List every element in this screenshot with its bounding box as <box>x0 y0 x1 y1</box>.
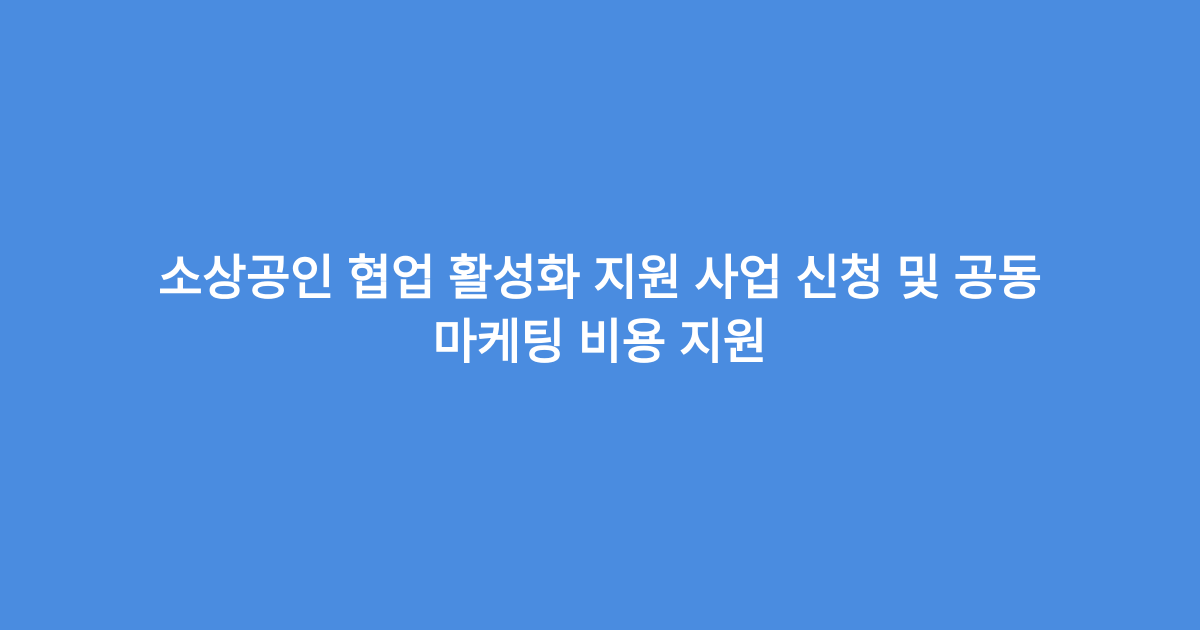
og-card-canvas: 소상공인 협업 활성화 지원 사업 신청 및 공동 마케팅 비용 지원 <box>0 0 1200 630</box>
page-title: 소상공인 협업 활성화 지원 사업 신청 및 공동 마케팅 비용 지원 <box>144 247 1056 376</box>
headline-block: 소상공인 협업 활성화 지원 사업 신청 및 공동 마케팅 비용 지원 <box>120 247 1080 376</box>
